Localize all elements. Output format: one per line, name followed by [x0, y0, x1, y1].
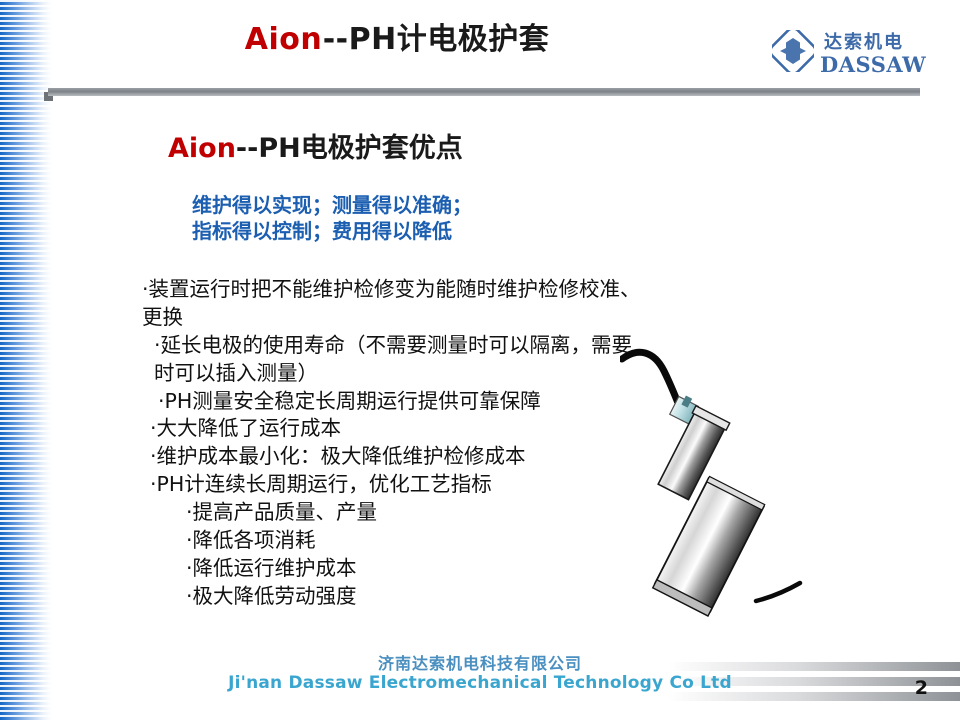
logo-english-name: DASSAW [820, 52, 926, 77]
bullet-item: ·提高产品质量、产量 [128, 499, 648, 527]
footer-company-english: Ji'nan Dassaw Electromechanical Technolo… [0, 673, 960, 693]
bullet-item: ·极大降低劳动强度 [128, 583, 648, 611]
dassaw-diamond-logo-icon [772, 30, 814, 72]
title-divider-rule [48, 88, 920, 96]
bullet-item: ·PH测量安全稳定长周期运行提供可靠保障 [128, 388, 648, 416]
page-title-rest: --PH计电极护套 [323, 22, 550, 57]
tagline-line-1: 维护得以实现；测量得以准确； [192, 192, 472, 218]
bullet-item: ·降低各项消耗 [128, 527, 648, 555]
page-number: 2 [915, 677, 928, 699]
section-subtitle-rest: --PH电极护套优点 [236, 133, 463, 164]
footer-company-chinese: 济南达索机电科技有限公司 [0, 650, 960, 674]
tagline-line-2: 指标得以控制；费用得以降低 [192, 218, 472, 244]
page-title: Aion--PH计电极护套 [52, 14, 742, 58]
benefits-bullet-list: ·装置运行时把不能维护检修变为能随时维护检修校准、更换 ·延长电极的使用寿命（不… [128, 276, 648, 611]
slide-canvas: Aion--PH计电极护套 达索机电 DASSAW Aion--PH电极护套… [0, 0, 960, 720]
tagline-block: 维护得以实现；测量得以准确； 指标得以控制；费用得以降低 [192, 192, 472, 245]
bullet-item: ·PH计连续长周期运行，优化工艺指标 [128, 471, 648, 499]
page-title-brand: Aion [245, 22, 323, 57]
bullet-item: ·维护成本最小化：极大降低维护检修成本 [128, 443, 648, 471]
company-logo: 达索机电 DASSAW [772, 26, 942, 84]
logo-chinese-name: 达索机电 [824, 28, 904, 54]
section-subtitle: Aion--PH电极护套优点 [168, 126, 463, 165]
ph-electrode-probe-illustration [620, 345, 850, 635]
section-subtitle-brand: Aion [168, 133, 236, 164]
left-band-fade-overlay [40, 0, 66, 720]
bullet-item: ·装置运行时把不能维护检修变为能随时维护检修校准、更换 [128, 276, 648, 332]
bullet-item: ·大大降低了运行成本 [128, 415, 648, 443]
bullet-item: ·延长电极的使用寿命（不需要测量时可以隔离，需要时可以插入测量） [128, 332, 648, 388]
bullet-item: ·降低运行维护成本 [128, 555, 648, 583]
left-decorative-stripe-band [0, 0, 52, 720]
